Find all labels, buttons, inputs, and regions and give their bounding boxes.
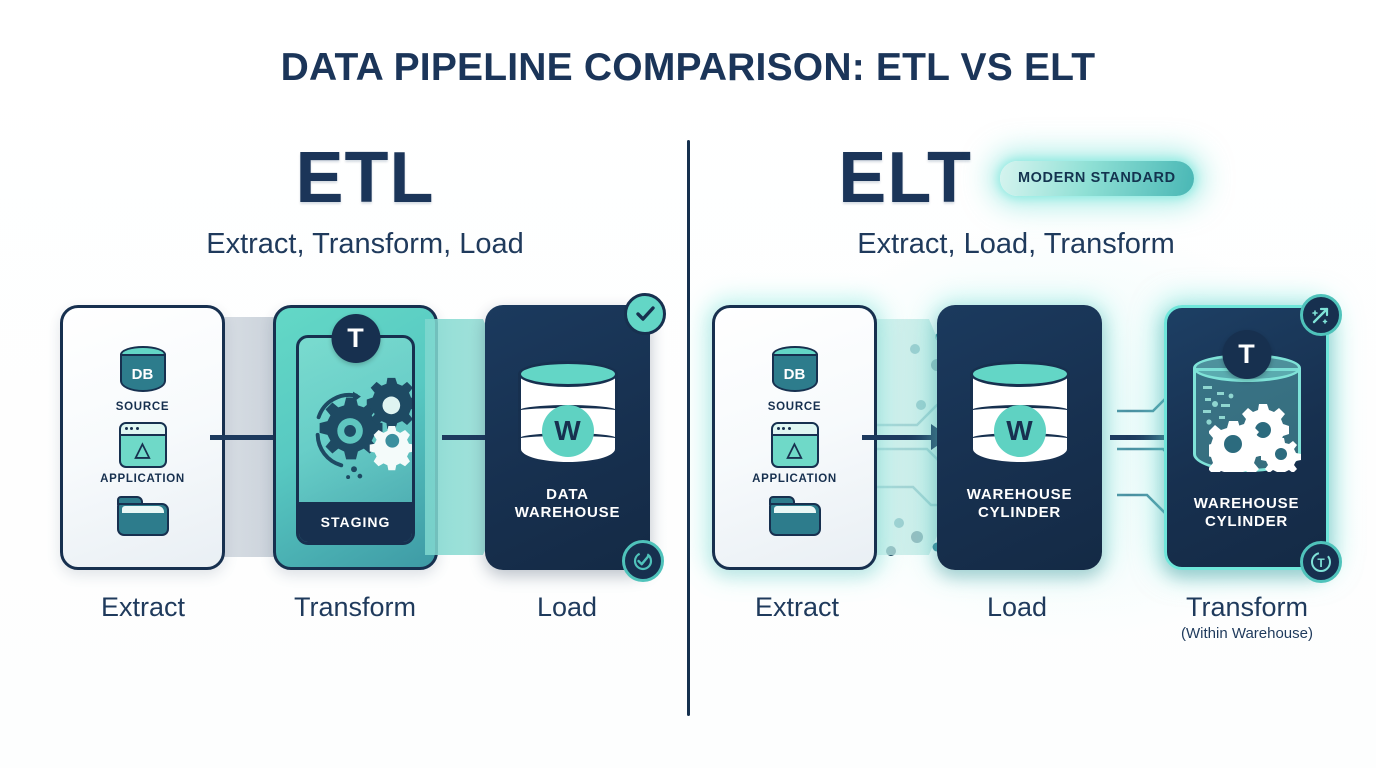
elt-transform-card[interactable]: WAREHOUSE CYLINDER T T xyxy=(1164,305,1329,570)
etl-subtitle: Extract, Transform, Load xyxy=(60,228,670,261)
elt-extract-card[interactable]: DB SOURCE △ APPLICATION xyxy=(712,305,877,570)
magic-wand-icon xyxy=(1300,294,1342,336)
elt-panel-header: ELT MODERN STANDARD Extract, Load, Trans… xyxy=(706,142,1326,261)
warehouse-cylinder-icon: W xyxy=(970,361,1070,473)
folder-icon xyxy=(769,496,821,536)
source-label: SOURCE xyxy=(768,401,821,413)
svg-text:T: T xyxy=(1317,556,1325,570)
database-icon: DB xyxy=(120,346,166,396)
application-label: APPLICATION xyxy=(100,473,185,485)
panel-divider xyxy=(687,140,690,716)
stage-label-transform: Transform xyxy=(260,592,450,623)
elt-transform-caption: WAREHOUSE CYLINDER xyxy=(1194,495,1300,530)
transform-badge-icon: T xyxy=(331,314,380,363)
stage-label-extract: Extract xyxy=(702,592,892,623)
elt-arrow-1-line xyxy=(862,435,934,440)
etl-load-card[interactable]: W DATA WAREHOUSE xyxy=(485,305,650,570)
staging-inner-panel: STAGING xyxy=(296,335,415,545)
etl-acronym: ETL xyxy=(60,142,670,214)
transform-badge-icon: T xyxy=(1222,330,1271,379)
application-window-icon: △ xyxy=(771,422,819,468)
folder-icon xyxy=(117,496,169,536)
etl-panel-header: ETL Extract, Transform, Load xyxy=(60,142,670,261)
source-label: SOURCE xyxy=(116,401,169,413)
etl-transform-card[interactable]: STAGING T xyxy=(273,305,438,570)
elt-subtitle: Extract, Load, Transform xyxy=(706,228,1326,261)
elt-pipeline-row: DB SOURCE △ APPLICATION W W xyxy=(712,305,1342,575)
database-icon: DB xyxy=(772,346,818,396)
etl-load-caption: DATA WAREHOUSE xyxy=(515,486,621,521)
modern-standard-badge: MODERN STANDARD xyxy=(1000,161,1194,196)
page-title: DATA PIPELINE COMPARISON: ETL VS ELT xyxy=(0,46,1376,90)
infographic-canvas: DATA PIPELINE COMPARISON: ETL VS ELT ETL… xyxy=(0,0,1376,768)
transform-clock-icon: T xyxy=(1300,541,1342,583)
staging-label: STAGING xyxy=(299,502,412,542)
check-circle-icon xyxy=(624,293,666,335)
gears-icon xyxy=(1209,400,1301,472)
elt-load-caption: WAREHOUSE CYLINDER xyxy=(967,486,1073,521)
elt-acronym: ELT xyxy=(838,142,972,214)
application-window-icon: △ xyxy=(119,422,167,468)
stage-label-transform: Transform (Within Warehouse) xyxy=(1152,592,1342,642)
warehouse-cylinder-icon: W xyxy=(518,361,618,473)
elt-arrow-2-line xyxy=(1110,435,1172,440)
application-label: APPLICATION xyxy=(752,473,837,485)
gears-icon xyxy=(299,372,415,482)
stage-label-load: Load xyxy=(922,592,1112,623)
check-clock-icon xyxy=(622,540,664,582)
stage-sublabel-within-warehouse: (Within Warehouse) xyxy=(1152,625,1342,642)
stage-label-load: Load xyxy=(472,592,662,623)
etl-extract-card[interactable]: DB SOURCE △ APPLICATION xyxy=(60,305,225,570)
etl-pipeline-row: DB SOURCE △ APPLICATION xyxy=(60,305,670,575)
stage-label-extract: Extract xyxy=(48,592,238,623)
elt-load-card[interactable]: W WAREHOUSE CYLINDER xyxy=(937,305,1102,570)
